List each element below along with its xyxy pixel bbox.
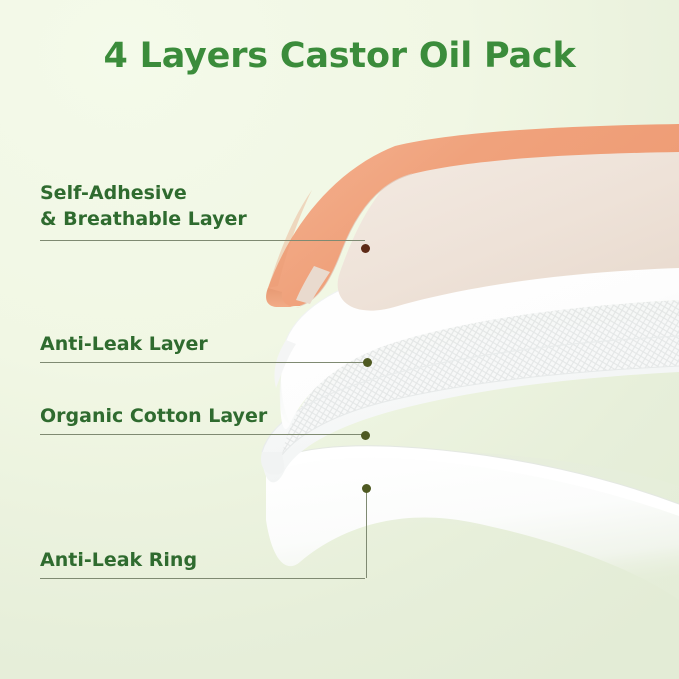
leader-line-vertical xyxy=(366,488,367,578)
callout-label-line1: Anti-Leak Layer xyxy=(40,331,365,357)
callout-anti-leak-layer: Anti-Leak Layer xyxy=(40,331,365,363)
callout-label-line2: & Breathable Layer xyxy=(40,206,365,232)
leader-line xyxy=(40,578,365,579)
leader-dot-anti-leak-ring xyxy=(362,484,371,493)
callout-label-line1: Self-Adhesive xyxy=(40,180,365,206)
page-title: 4 Layers Castor Oil Pack xyxy=(0,36,679,76)
leader-line xyxy=(40,240,365,241)
leader-line xyxy=(40,362,365,363)
leader-dot-organic-cotton-layer xyxy=(361,431,370,440)
callout-anti-leak-ring: Anti-Leak Ring xyxy=(40,547,365,579)
callout-label-line1: Organic Cotton Layer xyxy=(40,403,363,429)
infographic-canvas: 4 Layers Castor Oil Pack Self-Adhesive &… xyxy=(0,0,679,679)
leader-dot-self-adhesive-breathable-layer xyxy=(361,244,370,253)
leader-line xyxy=(40,434,363,435)
leader-dot-anti-leak-layer xyxy=(363,358,372,367)
callout-label-line1: Anti-Leak Ring xyxy=(40,547,365,573)
callout-organic-cotton-layer: Organic Cotton Layer xyxy=(40,403,363,435)
callout-self-adhesive-breathable-layer: Self-Adhesive & Breathable Layer xyxy=(40,180,365,241)
